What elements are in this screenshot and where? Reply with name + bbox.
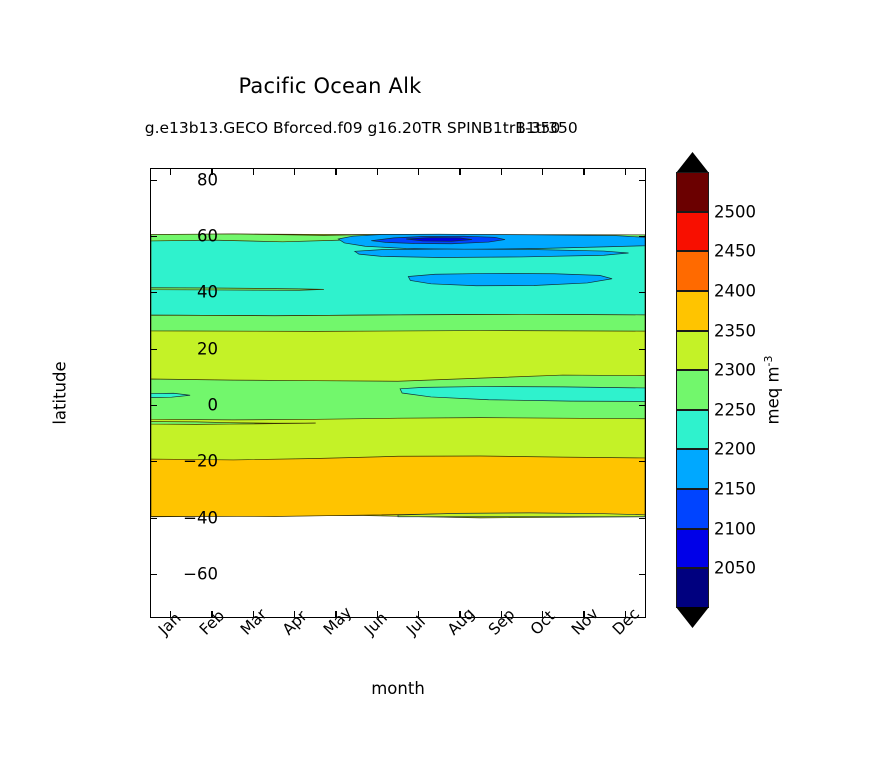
plot-axes: [150, 168, 646, 618]
ytick-mark-0: [150, 405, 157, 406]
xtick-mark-jan-top: [170, 168, 171, 175]
xtick-mark-jul-top: [418, 168, 419, 175]
ytick-mark-right-60: [639, 236, 646, 237]
subtitle-overlay-b: 1-350: [515, 119, 560, 137]
page-title: Pacific Ocean Alk: [0, 74, 660, 98]
xtick-mark-apr-top: [294, 168, 295, 175]
colorbar-cell-amber: [676, 291, 709, 331]
colorbar-tick-2400: 2400: [714, 281, 756, 300]
ytick-label-20: 20: [197, 340, 218, 359]
colorbar-cell-bright-blue: [676, 489, 709, 529]
xtick-mark-feb-top: [211, 168, 212, 175]
colorbar-tick-2350: 2350: [714, 321, 756, 340]
ytick-mark-right-80: [639, 180, 646, 181]
subtitle-base: g.e13b13.GECO Bforced.f09 g16.20TR SPINB…: [145, 119, 515, 137]
colorbar-tick-2250: 2250: [714, 400, 756, 419]
ytick-mark-right-0: [639, 405, 646, 406]
colorbar-tick-2200: 2200: [714, 440, 756, 459]
ytick-label-60: 60: [197, 227, 218, 246]
xtick-mark-oct-top: [542, 168, 543, 175]
plot-subtitle: g.e13b13.GECO Bforced.f09 g16.20TR SPINB…: [0, 119, 660, 137]
contour-field: [151, 169, 645, 617]
ytick-mark-20: [150, 349, 157, 350]
ytick-mark-80: [150, 180, 157, 181]
figure-canvas: Pacific Ocean Alk g.e13b13.GECO Bforced.…: [0, 0, 870, 783]
colorbar[interactable]: [676, 172, 709, 608]
xtick-mark-aug-top: [459, 168, 460, 175]
ytick-mark-right-m40: [639, 518, 646, 519]
ytick-mark-60: [150, 236, 157, 237]
ytick-mark-m60: [150, 574, 157, 575]
colorbar-tick-2300: 2300: [714, 361, 756, 380]
colorbar-cell-turquoise: [676, 410, 709, 450]
ytick-mark-40: [150, 292, 157, 293]
colorbar-label: meq m-3: [762, 356, 783, 425]
xtick-mark-may-top: [335, 168, 336, 175]
colorbar-tick-2450: 2450: [714, 242, 756, 261]
ytick-mark-m40: [150, 518, 157, 519]
contour-region-2250-2300-band-35N: [151, 314, 645, 331]
contour-plot-area: [151, 169, 645, 617]
colorbar-cell-navy: [676, 568, 709, 608]
y-axis-label: latitude: [51, 361, 70, 424]
colorbar-cell-dark-red: [676, 172, 709, 212]
colorbar-label-exponent: -3: [762, 356, 775, 367]
ytick-label-0: 0: [208, 396, 219, 415]
colorbar-tick-2500: 2500: [714, 202, 756, 221]
ytick-mark-m20: [150, 461, 157, 462]
colorbar-arrow-top: [676, 152, 709, 173]
ytick-mark-right-m60: [639, 574, 646, 575]
colorbar-cell-blue: [676, 529, 709, 569]
ytick-label-40: 40: [197, 283, 218, 302]
ytick-label-m40: −40: [183, 509, 218, 528]
contour-region-2350-2400-south: [151, 456, 645, 516]
subtitle-overlap-group: g.e13b13.GECO Bforced.f09 g16.20TR SPINB…: [145, 119, 515, 137]
ytick-label-m60: −60: [183, 565, 218, 584]
xtick-mark-dec-top: [625, 168, 626, 175]
xtick-mark-sep-top: [501, 168, 502, 175]
ytick-mark-right-m20: [639, 461, 646, 462]
colorbar-cell-orange: [676, 251, 709, 291]
ytick-mark-right-40: [639, 292, 646, 293]
colorbar-cell-light-green: [676, 370, 709, 410]
colorbar-cell-red: [676, 212, 709, 252]
colorbar-cell-yellow-green: [676, 331, 709, 371]
colorbar-tick-2050: 2050: [714, 559, 756, 578]
xtick-mark-nov-top: [583, 168, 584, 175]
colorbar-tick-2100: 2100: [714, 519, 756, 538]
ytick-mark-right-20: [639, 349, 646, 350]
ytick-label-m20: −20: [183, 452, 218, 471]
xtick-mark-jun-top: [377, 168, 378, 175]
colorbar-cell-cyan-blue: [676, 449, 709, 489]
colorbar-tick-2150: 2150: [714, 480, 756, 499]
xtick-mark-mar-top: [253, 168, 254, 175]
x-axis-label: month: [371, 679, 425, 698]
colorbar-arrow-bottom: [676, 607, 709, 628]
colorbar-label-text: meq m: [763, 366, 782, 424]
ytick-label-80: 80: [197, 171, 218, 190]
